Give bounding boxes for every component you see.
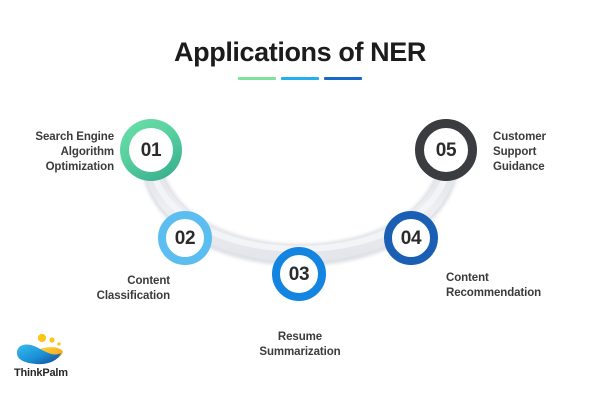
step-number-03: 03 xyxy=(289,265,310,284)
thinkpalm-logo-icon xyxy=(14,332,66,366)
step-label-01-line-1: Search Engine xyxy=(0,130,114,145)
thinkpalm-logo-text: ThinkPalm xyxy=(14,367,84,379)
step-label-04-line-1: Content xyxy=(446,271,596,286)
step-label-03-line-2: Summarization xyxy=(225,345,375,360)
step-node-03[interactable]: 03 xyxy=(272,247,326,301)
step-label-01-line-3: Optimization xyxy=(0,160,114,175)
step-node-01[interactable]: 01 xyxy=(120,119,182,181)
step-node-04[interactable]: 04 xyxy=(384,211,438,265)
logo-dot-large xyxy=(38,334,46,342)
step-node-05[interactable]: 05 xyxy=(415,119,477,181)
step-number-02: 02 xyxy=(175,229,196,248)
step-number-04: 04 xyxy=(401,229,422,248)
step-label-05-line-3: Guidance xyxy=(493,160,600,175)
step-node-02[interactable]: 02 xyxy=(158,211,212,265)
step-number-01: 01 xyxy=(141,141,162,160)
step-label-04-line-2: Recommendation xyxy=(446,286,596,301)
step-label-02-line-1: Content xyxy=(30,274,170,289)
step-number-05: 05 xyxy=(436,141,457,160)
step-label-03: Resume Summarization xyxy=(225,330,375,360)
step-label-05-line-1: Customer xyxy=(493,130,600,145)
thinkpalm-logo: ThinkPalm xyxy=(14,332,84,379)
step-label-02-line-2: Classification xyxy=(30,289,170,304)
logo-dot-small xyxy=(57,342,60,345)
logo-dot-medium xyxy=(49,337,54,342)
step-label-04: Content Recommendation xyxy=(446,271,596,301)
step-label-05-line-2: Support xyxy=(493,145,600,160)
infographic-canvas: Applications of NER xyxy=(0,0,600,400)
step-label-02: Content Classification xyxy=(30,274,170,304)
step-label-01-line-2: Algorithm xyxy=(0,145,114,160)
step-label-01: Search Engine Algorithm Optimization xyxy=(0,130,114,176)
step-label-05: Customer Support Guidance xyxy=(493,130,600,176)
step-label-03-line-1: Resume xyxy=(225,330,375,345)
